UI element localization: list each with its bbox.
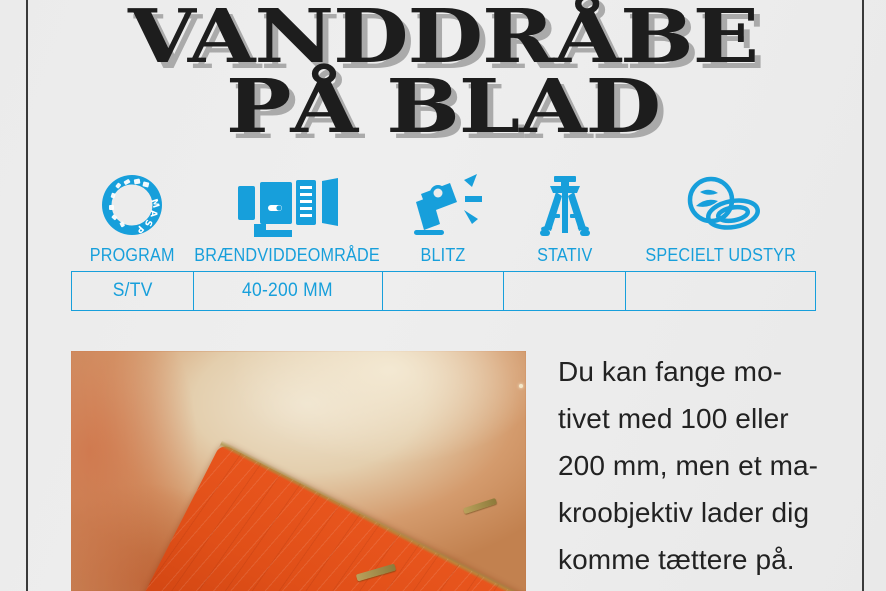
spec-column-tripod: STATIV [504,172,626,266]
filters-icon [678,172,764,238]
spec-value-focal-range: 40-200 MM [194,272,383,310]
spec-label-focal-range: BRÆNDVIDDEOMRÅDE [195,245,381,266]
spec-column-flash: BLITZ [382,172,504,266]
spec-strip: M A S P PROGRAM [71,172,816,311]
spec-value-flash [383,272,505,310]
spec-label-program: PROGRAM [90,245,175,266]
body-copy-line: kroobjektiv lader dig [558,489,858,536]
macro-photo-waterdrop-on-leaf [71,351,526,591]
camera-mode-dial-icon: M A S P [99,172,165,238]
spec-label-special-gear: SPECIELT UDSTYR [646,245,797,266]
body-copy-line: tivet med 100 eller [558,395,858,442]
spec-label-tripod: STATIV [537,245,592,266]
svg-text:A: A [148,210,158,217]
body-copy-line: 200 mm, men et ma- [558,442,858,489]
magazine-page: VANDDRÅBE PÅ BLAD [0,0,886,591]
flash-icon [402,172,484,238]
page-title-line-1: VANDDRÅBE [0,6,886,70]
spec-label-flash: BLITZ [420,245,465,266]
body-copy-line: komme tættere på. [558,536,858,583]
spec-column-program: M A S P PROGRAM [71,172,193,266]
tripod-icon [532,172,598,238]
page-title-line-2: PÅ BLAD [0,76,886,140]
spec-values-row: S/TV 40-200 MM [71,271,816,311]
spec-value-tripod [504,272,626,310]
page-title: VANDDRÅBE PÅ BLAD [0,6,886,139]
photo-highlight-speck [519,384,523,388]
lens-icon [234,172,342,238]
body-copy-line: Du kan fange mo- [558,348,858,395]
spec-column-focal-range: BRÆNDVIDDEOMRÅDE [193,172,382,266]
spec-headers: M A S P PROGRAM [71,172,816,266]
spec-value-special-gear [626,272,816,310]
body-copy: Du kan fange mo- tivet med 100 eller 200… [558,348,858,583]
spec-column-special-gear: SPECIELT UDSTYR [626,172,816,266]
spec-value-program: S/TV [72,272,194,310]
